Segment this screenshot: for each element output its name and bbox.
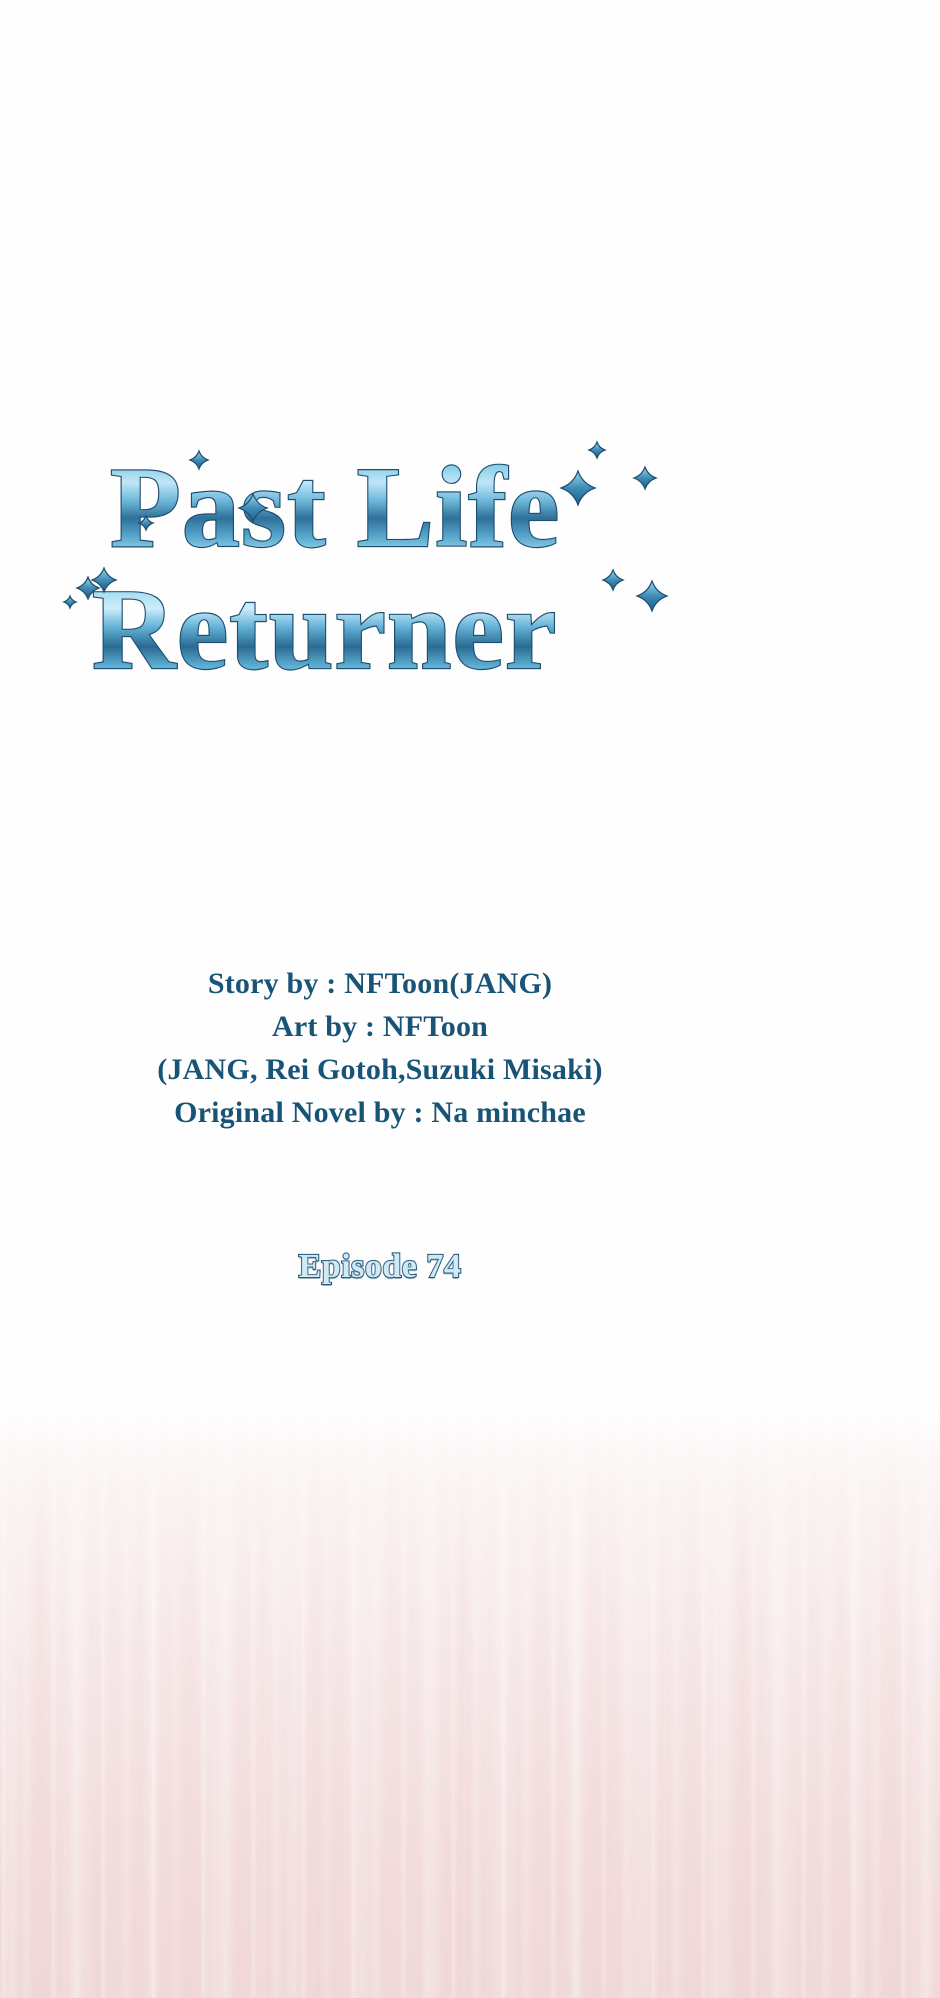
credit-line-art: Art by : NFToon — [0, 1005, 760, 1048]
credit-line-story: Story by : NFToon(JANG) — [0, 962, 760, 1005]
sparkle-icon — [64, 596, 76, 608]
sparkle-icon — [589, 442, 605, 458]
episode-block: Episode 74 — [0, 1248, 760, 1286]
credits-block: Story by : NFToon(JANG) Art by : NFToon … — [0, 962, 760, 1134]
sparkle-icon — [561, 471, 595, 505]
sparkle-icon — [603, 570, 623, 590]
title-text-returner: Returner — [92, 566, 557, 694]
title-logo: Past Life Returner — [0, 420, 940, 720]
webtoon-title-page: Past Life Returner Story by : NFToon(JAN… — [0, 0, 940, 1998]
sparkle-icon — [637, 581, 667, 611]
episode-label: Episode 74 — [299, 1248, 462, 1286]
credit-line-original-novel: Original Novel by : Na minchae — [0, 1091, 760, 1134]
title-line-1: Past Life — [110, 444, 560, 572]
sparkle-icon — [634, 467, 656, 489]
pink-gradient-background — [0, 1400, 940, 1998]
credit-line-artists: (JANG, Rei Gotoh,Suzuki Misaki) — [0, 1048, 760, 1091]
title-text-past-life: Past Life — [110, 444, 560, 572]
title-line-2: Returner — [92, 566, 557, 694]
